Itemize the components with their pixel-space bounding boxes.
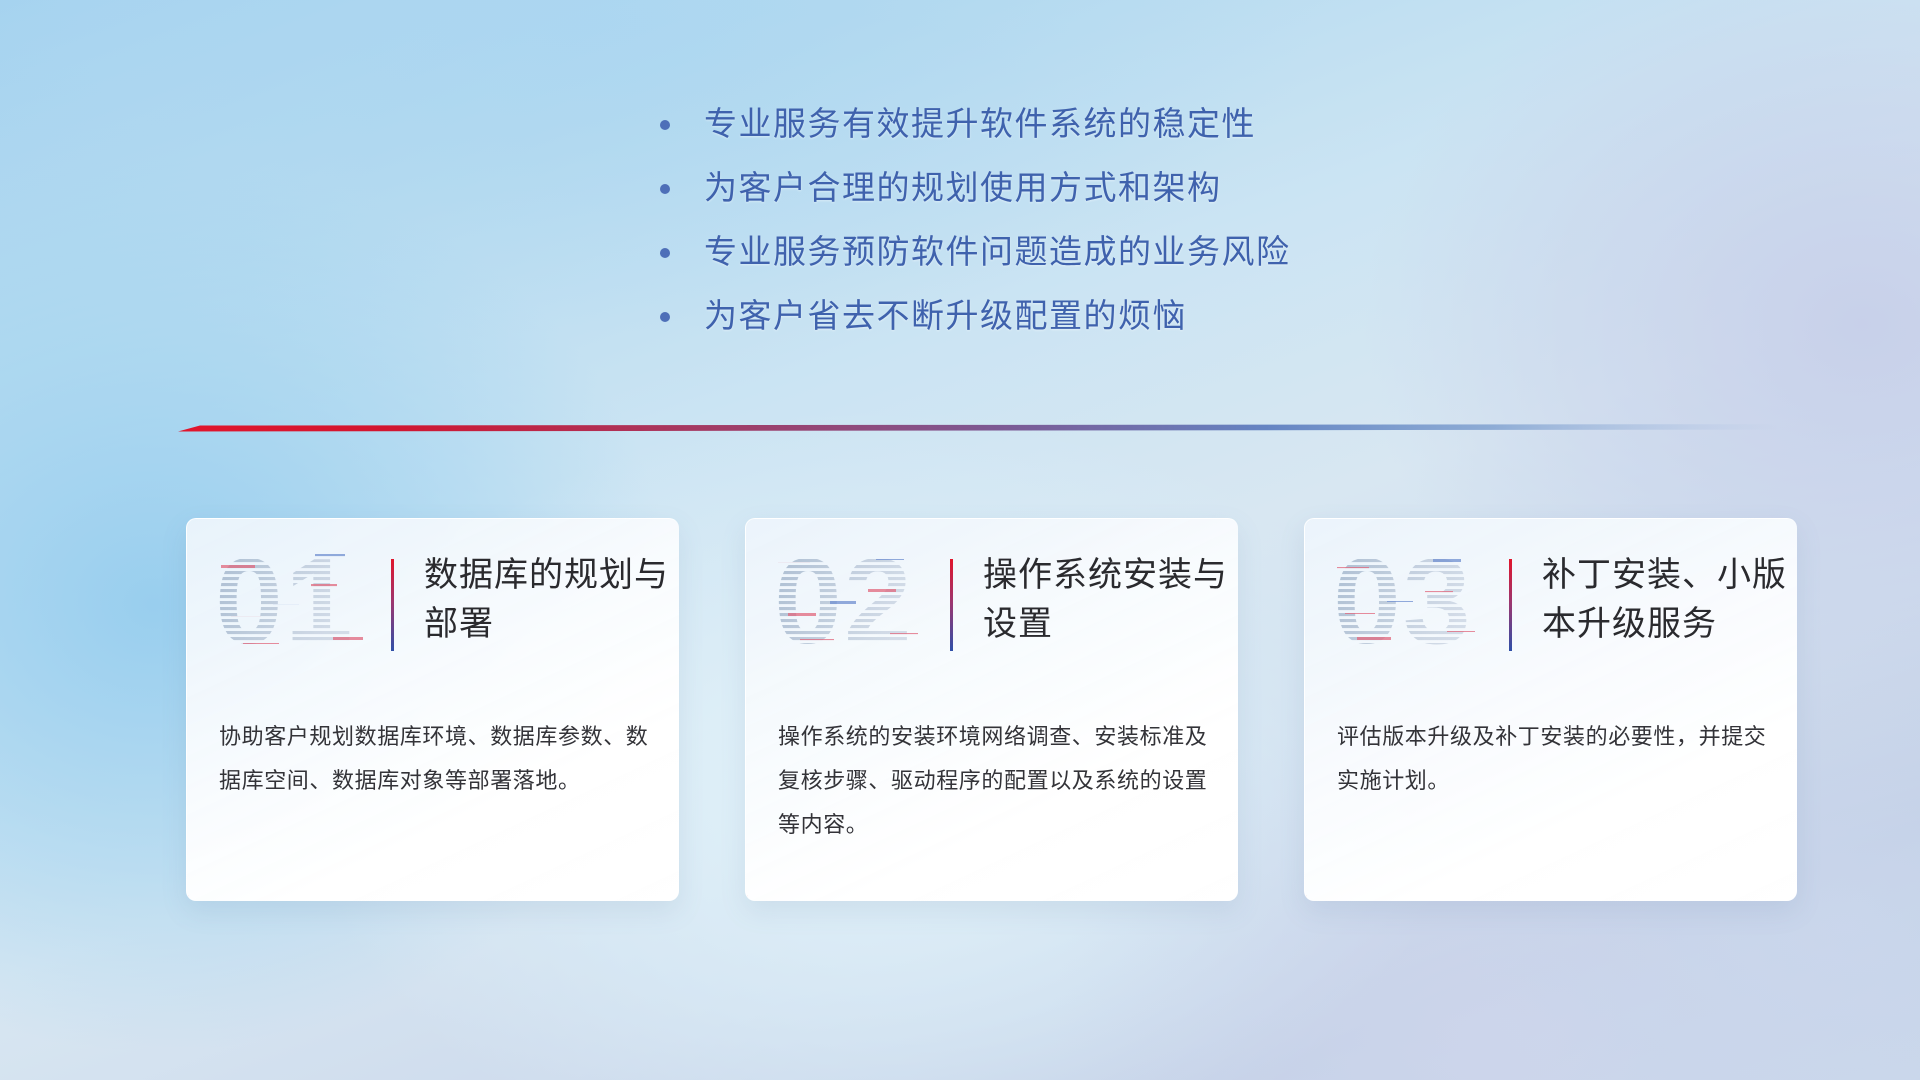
title-accent-bar bbox=[1509, 559, 1512, 651]
bullet-dot-icon bbox=[660, 120, 670, 130]
card-title: 操作系统安装与设置 bbox=[983, 551, 1238, 649]
svg-text:01: 01 bbox=[215, 541, 355, 661]
card-header: 操作系统安装与设置 bbox=[950, 551, 1238, 651]
bullet-label: 专业服务预防软件问题造成的业务风险 bbox=[704, 231, 1291, 273]
bullet-item: 专业服务有效提升软件系统的稳定性 bbox=[660, 103, 1560, 167]
bullet-item: 为客户合理的规划使用方式和架构 bbox=[660, 167, 1560, 231]
card-title: 数据库的规划与部署 bbox=[424, 551, 679, 649]
bullet-item: 为客户省去不断升级配置的烦恼 bbox=[660, 295, 1560, 359]
title-accent-bar bbox=[950, 559, 953, 651]
bullet-label: 专业服务有效提升软件系统的稳定性 bbox=[704, 103, 1256, 145]
service-card-list: 01 数据库的规划与部署 协助客户规划数据 bbox=[186, 518, 1796, 910]
bullet-label: 为客户省去不断升级配置的烦恼 bbox=[704, 295, 1187, 337]
title-accent-bar bbox=[391, 559, 394, 651]
card-description: 操作系统的安装环境网络调查、安装标准及复核步骤、驱动程序的配置以及系统的设置等内… bbox=[778, 715, 1210, 847]
ghost-number-02: 02 bbox=[772, 541, 952, 661]
card-description: 协助客户规划数据库环境、数据库参数、数据库空间、数据库对象等部署落地。 bbox=[219, 715, 651, 803]
card-header: 数据库的规划与部署 bbox=[391, 551, 679, 651]
card-description: 评估版本升级及补丁安装的必要性，并提交实施计划。 bbox=[1337, 715, 1769, 803]
benefits-bullet-list: 专业服务有效提升软件系统的稳定性 为客户合理的规划使用方式和架构 专业服务预防软… bbox=[660, 103, 1560, 359]
ghost-number-03: 03 bbox=[1331, 541, 1511, 661]
bullet-item: 专业服务预防软件问题造成的业务风险 bbox=[660, 231, 1560, 295]
bullet-dot-icon bbox=[660, 312, 670, 322]
card-header: 补丁安装、小版本升级服务 bbox=[1509, 551, 1797, 651]
slide-root: 专业服务有效提升软件系统的稳定性 为客户合理的规划使用方式和架构 专业服务预防软… bbox=[0, 0, 1920, 1080]
service-card[interactable]: 01 数据库的规划与部署 协助客户规划数据 bbox=[186, 518, 679, 901]
bullet-dot-icon bbox=[660, 184, 670, 194]
section-divider bbox=[178, 418, 1778, 438]
service-card[interactable]: 02 操作系统安装与设置 操作系统的安装环 bbox=[745, 518, 1238, 901]
ghost-number-01: 01 bbox=[213, 541, 393, 661]
bullet-dot-icon bbox=[660, 248, 670, 258]
card-title: 补丁安装、小版本升级服务 bbox=[1542, 551, 1797, 649]
bullet-label: 为客户合理的规划使用方式和架构 bbox=[704, 167, 1222, 209]
service-card[interactable]: 03 补丁安装、小版本升级服务 评估版本升 bbox=[1304, 518, 1797, 901]
